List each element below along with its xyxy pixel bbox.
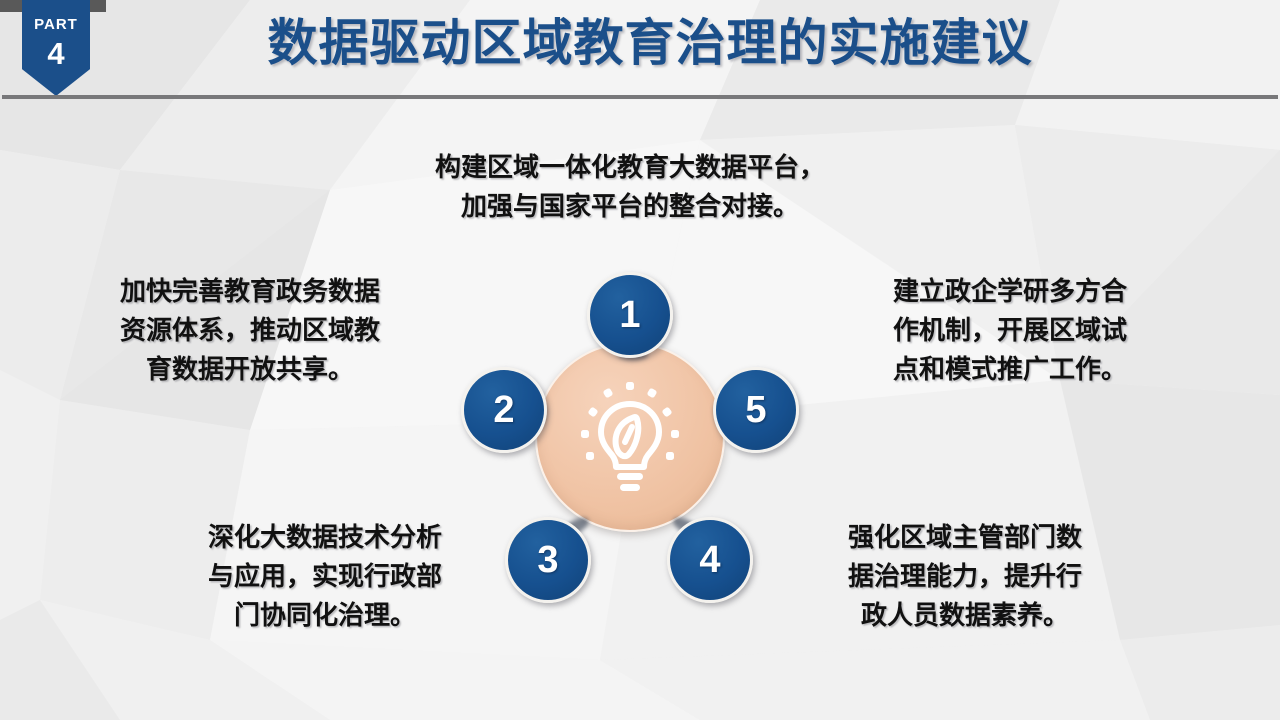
central-diagram: 1 2 3 4 5 bbox=[440, 255, 840, 625]
node-circle-5[interactable]: 5 bbox=[713, 367, 799, 453]
part-ribbon-badge: PART 4 bbox=[22, 0, 90, 96]
page-title: 数据驱动区域教育治理的实施建议 bbox=[150, 14, 1150, 72]
item-text-left: 加快完善教育政务数据 资源体系，推动区域教 育数据开放共享。 bbox=[75, 272, 425, 389]
node-circle-3[interactable]: 3 bbox=[505, 517, 591, 603]
part-label: PART bbox=[22, 17, 90, 32]
header-divider bbox=[2, 95, 1278, 99]
lightbulb-leaf-icon bbox=[575, 380, 685, 495]
item-text-top: 构建区域一体化教育大数据平台， 加强与国家平台的整合对接。 bbox=[330, 148, 930, 226]
node-circle-4[interactable]: 4 bbox=[667, 517, 753, 603]
item-text-right: 建立政企学研多方合 作机制，开展区域试 点和模式推广工作。 bbox=[845, 272, 1175, 389]
node-circle-2[interactable]: 2 bbox=[461, 367, 547, 453]
part-number: 4 bbox=[22, 38, 90, 69]
slide-canvas: PART 4 数据驱动区域教育治理的实施建议 构建区域一体化教育大数据平台， 加… bbox=[0, 0, 1280, 720]
node-circle-1[interactable]: 1 bbox=[587, 272, 673, 358]
item-text-bottom-right: 强化区域主管部门数 据治理能力，提升行 政人员数据素养。 bbox=[800, 518, 1130, 635]
